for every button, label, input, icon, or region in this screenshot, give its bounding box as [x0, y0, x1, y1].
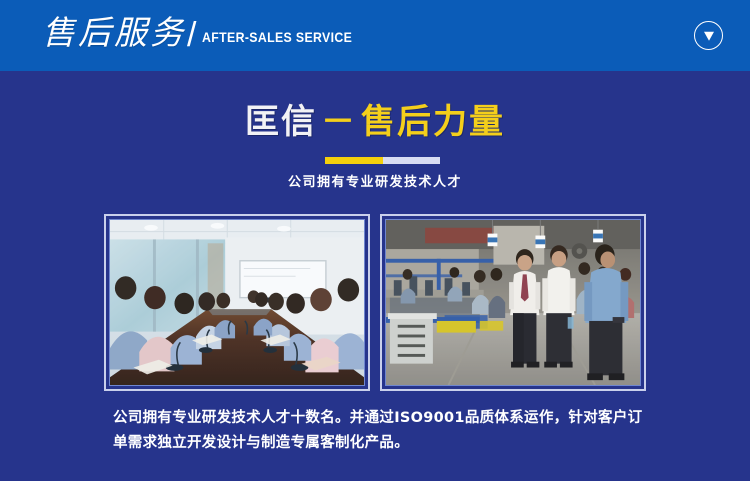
page-header: 售后服务 / AFTER-SALES SERVICE: [0, 0, 750, 71]
down-triangle-glyph: [702, 29, 715, 42]
title-divider-right-segment: [383, 157, 441, 164]
meeting-room-photo[interactable]: [104, 214, 370, 391]
page-subtitle: 公司拥有专业研发技术人才: [0, 171, 750, 190]
circle-down-triangle-icon[interactable]: [694, 21, 723, 50]
header-title-separator: /: [187, 14, 196, 56]
page-title: 匡信－售后力量: [0, 100, 750, 144]
description-paragraph: 公司拥有专业研发技术人才十数名。并通过ISO9001品质体系运作，针对客户订单需…: [113, 406, 653, 456]
meeting-room-photo-image: [110, 220, 364, 385]
after-sales-service-banner: 售后服务 / AFTER-SALES SERVICE 匡信－售后力量 公司拥有专…: [0, 0, 750, 481]
title-divider: [325, 157, 440, 164]
factory-floor-photo-inner: [385, 219, 641, 386]
title-divider-left-segment: [325, 157, 383, 164]
factory-floor-photo-image: [386, 220, 640, 385]
header-title-chinese: 售后服务: [42, 13, 186, 55]
factory-floor-photo[interactable]: [380, 214, 646, 391]
photo-gallery: [104, 214, 646, 391]
meeting-room-photo-inner: [109, 219, 365, 386]
header-title-english: AFTER-SALES SERVICE: [202, 29, 352, 45]
header-title-group: 售后服务 / AFTER-SALES SERVICE: [42, 12, 373, 55]
page-body: 匡信－售后力量 公司拥有专业研发技术人才: [0, 71, 750, 481]
page-title-brand: 匡信: [245, 102, 317, 142]
page-title-accent: 售后力量: [361, 102, 505, 142]
page-title-dash: －: [317, 102, 361, 142]
